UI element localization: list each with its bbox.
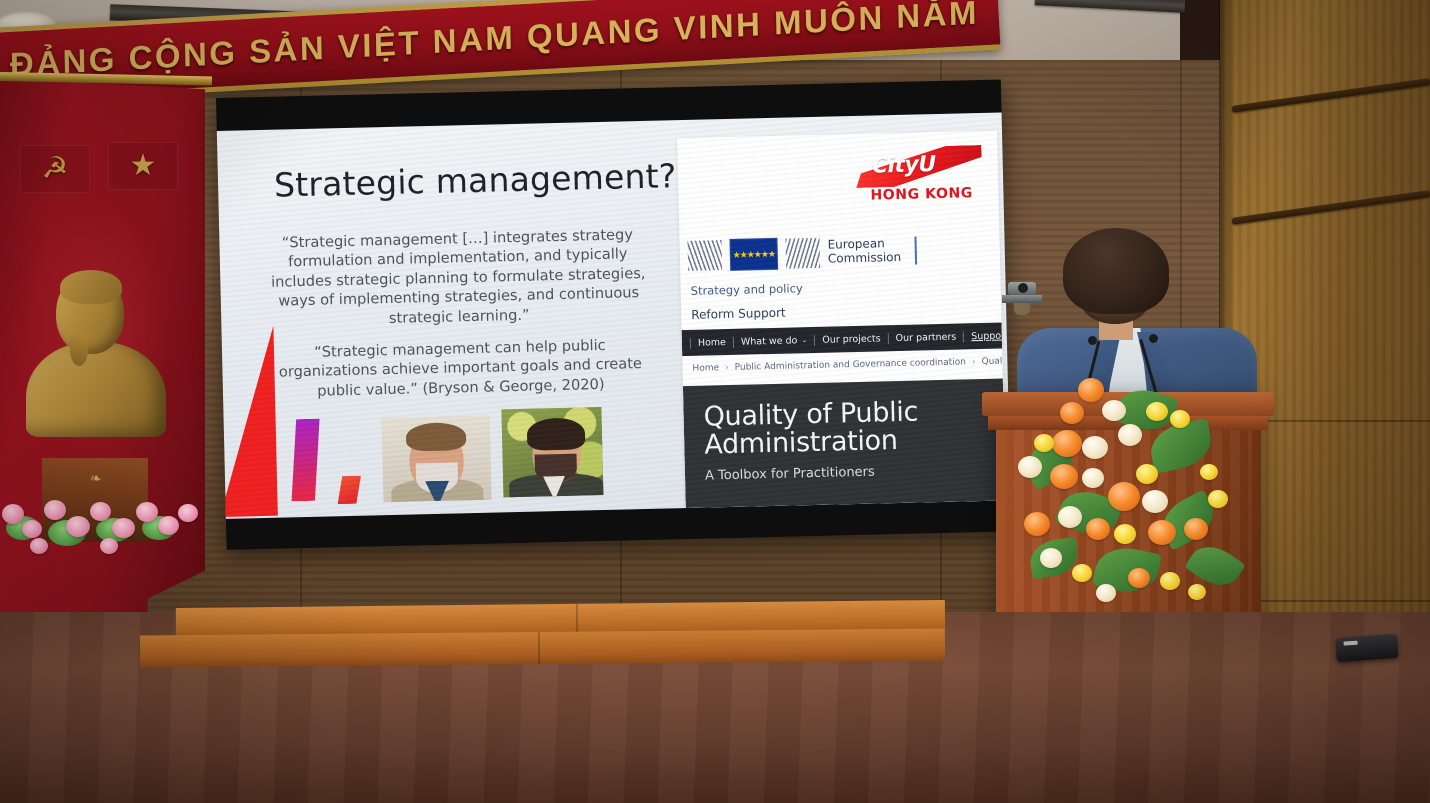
nav-label-our-partners: Our partners bbox=[895, 331, 956, 343]
nav-label-our-projects: Our projects bbox=[822, 333, 881, 345]
eu-logo-divider bbox=[915, 237, 918, 265]
slide-title: Strategic management? bbox=[274, 156, 677, 204]
cityu-logo: CityU HONG KONG bbox=[855, 145, 983, 214]
nav-label-support-opportunities: Support opportunities bbox=[971, 328, 1006, 341]
slide-quotes: “Strategic management […] integrates str… bbox=[267, 225, 651, 402]
hero-subtitle: A Toolbox for Practitioners bbox=[705, 461, 1005, 483]
eu-section-label[interactable]: Reform Support bbox=[691, 306, 786, 322]
nav-label-what-we-do: What we do bbox=[741, 335, 798, 347]
plinth-ornament-icon: ❧ bbox=[90, 470, 102, 487]
eu-stars: ★★★★★★ bbox=[729, 238, 778, 271]
slide-quote-1: “Strategic management […] integrates str… bbox=[267, 225, 649, 331]
breadcrumb-separator-1: › bbox=[725, 363, 729, 373]
eu-hero-banner: Quality of Public Administration A Toolb… bbox=[683, 379, 1006, 509]
nav-item-our-projects[interactable]: Our projects bbox=[815, 333, 889, 346]
breadcrumb-separator-2: › bbox=[972, 357, 976, 367]
slide-magenta-accent bbox=[290, 419, 322, 502]
eu-logo-line2: Commission bbox=[828, 251, 902, 267]
eu-website-screenshot: CityU HONG KONG ★★★★★★ European Commissi… bbox=[677, 131, 1006, 508]
conference-hall-scene: ĐẢNG CỘNG SẢN VIỆT NAM QUANG VINH MUÔN N… bbox=[0, 0, 1430, 803]
portrait-george bbox=[501, 407, 603, 497]
breadcrumb-item-current: Quality of Public Adm bbox=[981, 355, 1005, 367]
slide-quote-2: “Strategic management can help public or… bbox=[270, 335, 651, 402]
nav-label-home: Home bbox=[698, 337, 726, 349]
eu-flag-icon: ★★★★★★ bbox=[729, 238, 778, 271]
microphone-left-capsule bbox=[1088, 336, 1097, 345]
projection-screen: Strategic management? “Strategic managem… bbox=[216, 80, 1011, 550]
hammer-sickle-emblem-panel: ☭ bbox=[20, 145, 90, 193]
hammer-sickle-icon: ☭ bbox=[21, 146, 89, 192]
gold-star-emblem-panel: ★ bbox=[108, 142, 178, 190]
eu-logo-text: European Commission bbox=[827, 237, 901, 266]
wall-rail-lower bbox=[1231, 190, 1430, 225]
equipment-case bbox=[1335, 634, 1399, 662]
european-commission-logo: ★★★★★★ European Commission bbox=[687, 231, 988, 274]
breadcrumb-item-section[interactable]: Public Administration and Governance coo… bbox=[735, 357, 967, 372]
nav-item-our-partners[interactable]: Our partners bbox=[888, 331, 964, 344]
stage-steps bbox=[140, 604, 945, 666]
cityu-wordmark: CityU bbox=[871, 151, 982, 179]
eu-strategy-label[interactable]: Strategy and policy bbox=[691, 281, 803, 298]
wall-rail-upper bbox=[1231, 78, 1430, 113]
slide-orange-accent bbox=[337, 476, 362, 505]
microphone-right-capsule bbox=[1149, 334, 1158, 343]
eu-primary-nav[interactable]: Home What we do ⌄ Our projects Our partn… bbox=[682, 323, 1003, 357]
star-icon: ★ bbox=[109, 143, 177, 189]
podium-flower-arrangement bbox=[1000, 372, 1275, 642]
portrait-bryson bbox=[382, 416, 492, 503]
breadcrumb-item-home[interactable]: Home bbox=[692, 363, 719, 374]
cityu-subtitle: HONG KONG bbox=[870, 185, 973, 203]
nav-item-what-we-do[interactable]: What we do ⌄ bbox=[734, 334, 816, 347]
nav-item-home[interactable]: Home bbox=[690, 336, 734, 348]
stage-step-lower bbox=[140, 628, 945, 667]
slide-red-triangle-accent bbox=[217, 326, 278, 517]
breadcrumb[interactable]: Home › Public Administration and Governa… bbox=[692, 357, 1002, 374]
nav-item-support-opportunities[interactable]: Support opportunities bbox=[964, 328, 1006, 342]
hero-title-line2: Administration bbox=[704, 424, 1005, 459]
eu-logo-rays-right bbox=[785, 238, 820, 269]
eu-logo-rays-left bbox=[687, 240, 722, 271]
chevron-down-icon: ⌄ bbox=[801, 336, 807, 344]
lotus-flower-arrangement bbox=[0, 486, 210, 556]
ceiling-vent-grille-3 bbox=[1035, 0, 1185, 13]
slide-canvas: Strategic management? “Strategic managem… bbox=[217, 112, 1011, 518]
